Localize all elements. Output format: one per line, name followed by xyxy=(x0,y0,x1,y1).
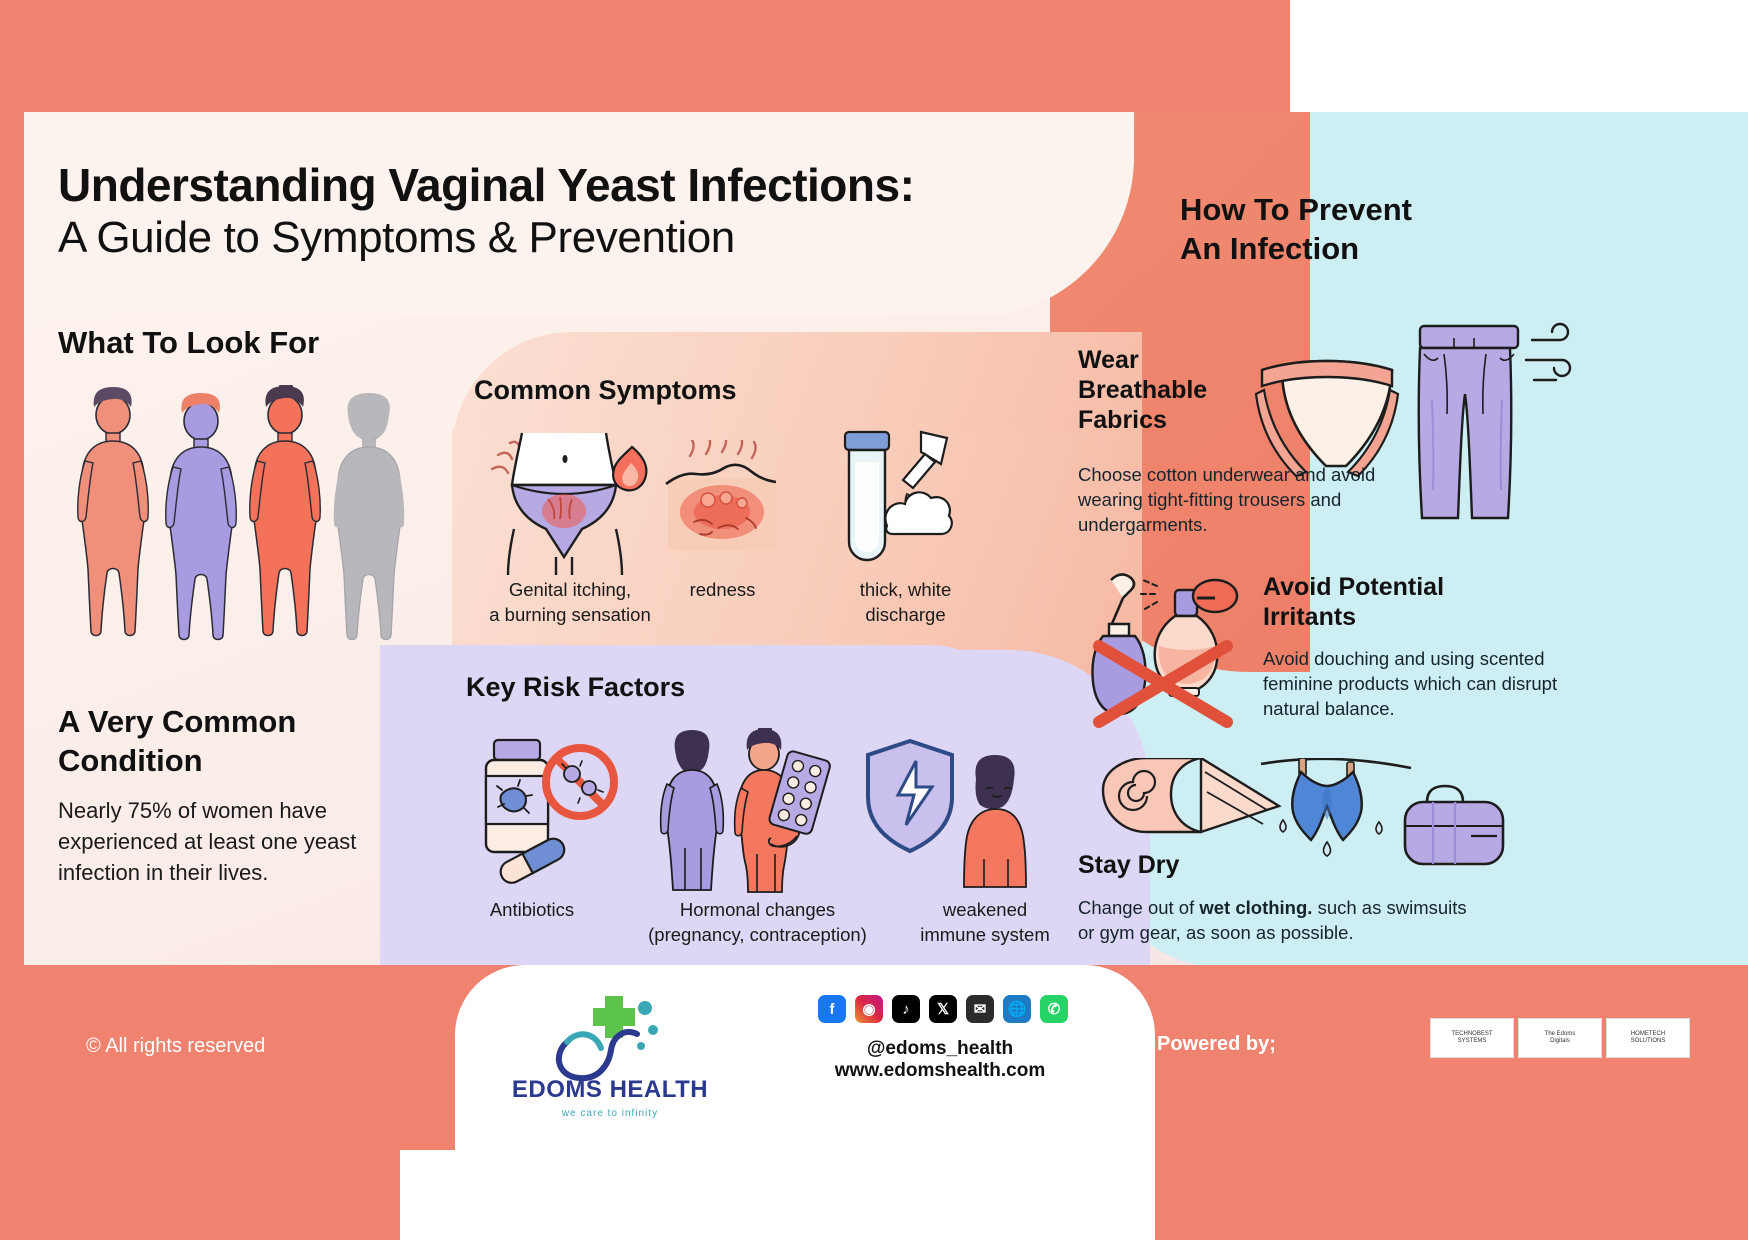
figure-3 xyxy=(250,385,320,636)
risk-caption-3: weakened immune system xyxy=(880,898,1090,947)
symptom-caption-1-line2: a burning sensation xyxy=(470,603,670,628)
tip-1-body: Choose cotton underwear and avoid wearin… xyxy=(1078,462,1398,537)
facebook-icon[interactable]: f xyxy=(818,995,846,1023)
social-handle: @edoms_health xyxy=(730,1038,1150,1060)
common-symptoms-heading: Common Symptoms xyxy=(474,375,737,406)
tip-1-title-line2: Breathable xyxy=(1078,375,1278,405)
key-risk-factors-heading: Key Risk Factors xyxy=(466,672,685,703)
partner-badge-2: The Edoms Digitals xyxy=(1518,1018,1602,1058)
weak-immune-shield-icon xyxy=(862,735,1047,895)
powered-by-label: Powered by; xyxy=(1157,1033,1276,1056)
tip-3-body-pre: Change out of xyxy=(1078,897,1199,918)
no-douche-perfume-icon xyxy=(1075,558,1265,738)
globe-icon[interactable]: 🌐 xyxy=(1003,995,1031,1023)
symptom-caption-1-line1: Genital itching, xyxy=(470,578,670,603)
tip-2-body: Avoid douching and using scented feminin… xyxy=(1263,646,1563,721)
figure-4 xyxy=(334,393,404,640)
partner-badge-2-line1: The Edoms xyxy=(1545,1031,1576,1038)
partner-badge-2-line2: Digitals xyxy=(1550,1038,1570,1045)
symptom-caption-3: thick, white discharge xyxy=(818,578,993,627)
infographic-poster: Understanding Vaginal Yeast Infections: … xyxy=(0,0,1748,1240)
risk-caption-3-line1: weakened xyxy=(880,898,1090,923)
tip-3-title: Stay Dry xyxy=(1078,850,1318,880)
test-tube-discharge-icon xyxy=(825,418,975,578)
risk-caption-2-line1: Hormonal changes xyxy=(625,898,890,923)
tip-3-title-line1: Stay Dry xyxy=(1078,850,1318,880)
symptom-caption-3-line1: thick, white xyxy=(818,578,993,603)
risk-caption-2-line2: (pregnancy, contraception) xyxy=(625,923,890,948)
title-line-1: Understanding Vaginal Yeast Infections: xyxy=(58,158,1088,212)
symptom-caption-2: redness xyxy=(645,578,800,603)
very-common-body: Nearly 75% of women have experienced at … xyxy=(58,795,398,889)
partner-badge-3-line2: SOLUTIONS xyxy=(1631,1038,1666,1045)
symptom-caption-1: Genital itching, a burning sensation xyxy=(470,578,670,627)
title-line-2: A Guide to Symptoms & Prevention xyxy=(58,212,1088,265)
antibiotics-bottle-icon xyxy=(468,730,628,890)
skin-redness-icon xyxy=(660,440,785,565)
top-coral-band xyxy=(0,0,1320,112)
figure-1 xyxy=(78,387,148,636)
prevention-heading: How To Prevent An Infection xyxy=(1180,190,1600,268)
social-icons-row: f ◉ ♪ 𝕏 ✉ 🌐 ✆ xyxy=(818,995,1068,1023)
email-icon[interactable]: ✉ xyxy=(966,995,994,1023)
very-common-heading: A Very Common Condition xyxy=(58,702,398,780)
what-to-look-for-heading: What To Look For xyxy=(58,325,319,361)
tiktok-icon[interactable]: ♪ xyxy=(892,995,920,1023)
copyright-text: © All rights reserved xyxy=(86,1035,265,1058)
figure-2 xyxy=(166,393,236,640)
x-twitter-icon[interactable]: 𝕏 xyxy=(929,995,957,1023)
partner-badge-1-line2: SYSTEMS xyxy=(1458,1038,1487,1045)
top-white-band xyxy=(1290,0,1748,112)
symptom-caption-3-line2: discharge xyxy=(818,603,993,628)
tip-1-title: Wear Breathable Fabrics xyxy=(1078,345,1278,435)
female-figures-illustration xyxy=(58,385,408,685)
prevention-heading-line1: How To Prevent xyxy=(1180,190,1600,229)
tip-2-title: Avoid Potential Irritants xyxy=(1263,572,1573,632)
partner-badge-1: TECHNOBEST SYSTEMS xyxy=(1430,1018,1514,1058)
risk-caption-1-line1: Antibiotics xyxy=(442,898,622,923)
prevention-heading-line2: An Infection xyxy=(1180,229,1600,268)
page-title: Understanding Vaginal Yeast Infections: … xyxy=(58,158,1088,265)
edoms-health-logo xyxy=(545,990,675,1085)
tip-3-body-bold: wet clothing. xyxy=(1199,897,1312,918)
symptom-caption-2-line1: redness xyxy=(645,578,800,603)
website-url: www.edomshealth.com xyxy=(730,1060,1150,1082)
partner-badge-3: HOMETECH SOLUTIONS xyxy=(1606,1018,1690,1058)
risk-caption-2: Hormonal changes (pregnancy, contracepti… xyxy=(625,898,890,947)
tip-2-title-line1: Avoid Potential xyxy=(1263,572,1573,602)
partner-badge-3-line1: HOMETECH xyxy=(1631,1031,1665,1038)
partner-logos: TECHNOBEST SYSTEMS The Edoms Digitals HO… xyxy=(1430,1018,1690,1058)
brand-tagline: we care to infinity xyxy=(495,1108,725,1119)
risk-caption-1: Antibiotics xyxy=(442,898,622,923)
partner-badge-1-line1: TECHNOBEST xyxy=(1451,1031,1492,1038)
risk-caption-3-line2: immune system xyxy=(880,923,1090,948)
pregnancy-contraception-icon xyxy=(655,728,845,893)
instagram-icon[interactable]: ◉ xyxy=(855,995,883,1023)
pelvis-itching-flame-icon xyxy=(470,425,660,575)
tip-1-title-line1: Wear xyxy=(1078,345,1278,375)
footer-notch xyxy=(400,1150,480,1240)
whatsapp-icon[interactable]: ✆ xyxy=(1040,995,1068,1023)
tip-3-body: Change out of wet clothing. such as swim… xyxy=(1078,895,1478,945)
tip-2-title-line2: Irritants xyxy=(1263,602,1573,632)
tip-1-title-line3: Fabrics xyxy=(1078,405,1278,435)
